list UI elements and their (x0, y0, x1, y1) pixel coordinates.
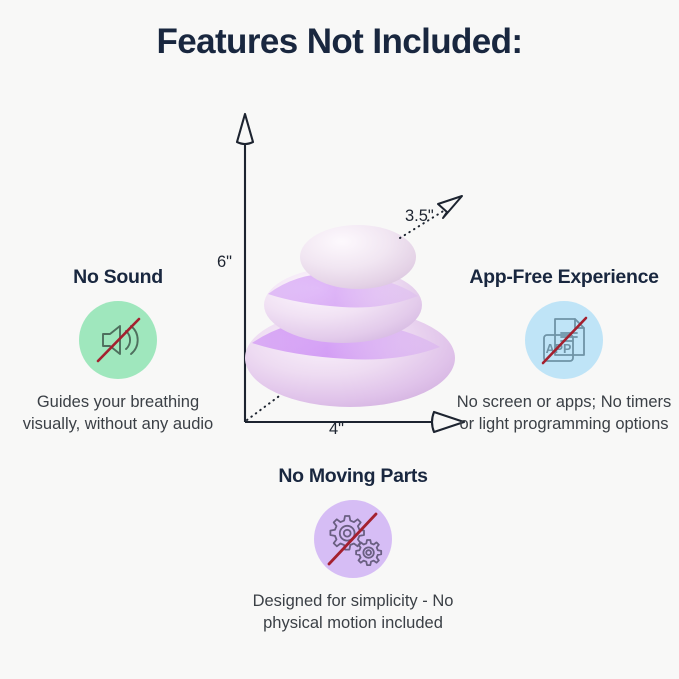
dimension-width-label: 4" (329, 420, 344, 439)
app-document-icon: APP (525, 301, 603, 379)
feature-no-moving-parts-icon (314, 500, 392, 578)
feature-app-free-description: No screen or apps; No timers or light pr… (448, 392, 679, 436)
dimension-depth-label: 3.5" (405, 207, 434, 226)
slash-line (98, 319, 139, 361)
page-title: Features Not Included: (0, 22, 679, 62)
depth-arrowhead (438, 196, 462, 218)
feature-no-moving-parts-title: No Moving Parts (228, 465, 478, 488)
feature-app-free: App-Free Experience APP No screen or app… (448, 266, 679, 436)
infographic-page: Features Not Included: (0, 0, 679, 679)
feature-no-sound: No Sound Guides your breathing visually,… (6, 266, 230, 436)
feature-no-sound-title: No Sound (6, 266, 230, 289)
feature-no-sound-description: Guides your breathing visually, without … (6, 392, 230, 436)
feature-no-moving-parts-description: Designed for simplicity - No physical mo… (228, 591, 478, 635)
horizontal-axis (245, 412, 464, 432)
feature-app-free-icon: APP (525, 301, 603, 379)
speaker-muted-icon (79, 301, 157, 379)
feature-no-moving-parts: No Moving Parts Designed for simplicity … (228, 465, 478, 635)
gears-icon (314, 500, 392, 578)
stone-top (300, 225, 416, 289)
app-label: APP (546, 342, 572, 356)
feature-app-free-title: App-Free Experience (448, 266, 679, 289)
vertical-axis (237, 114, 253, 422)
feature-no-sound-icon (79, 301, 157, 379)
slash-line (543, 318, 586, 363)
